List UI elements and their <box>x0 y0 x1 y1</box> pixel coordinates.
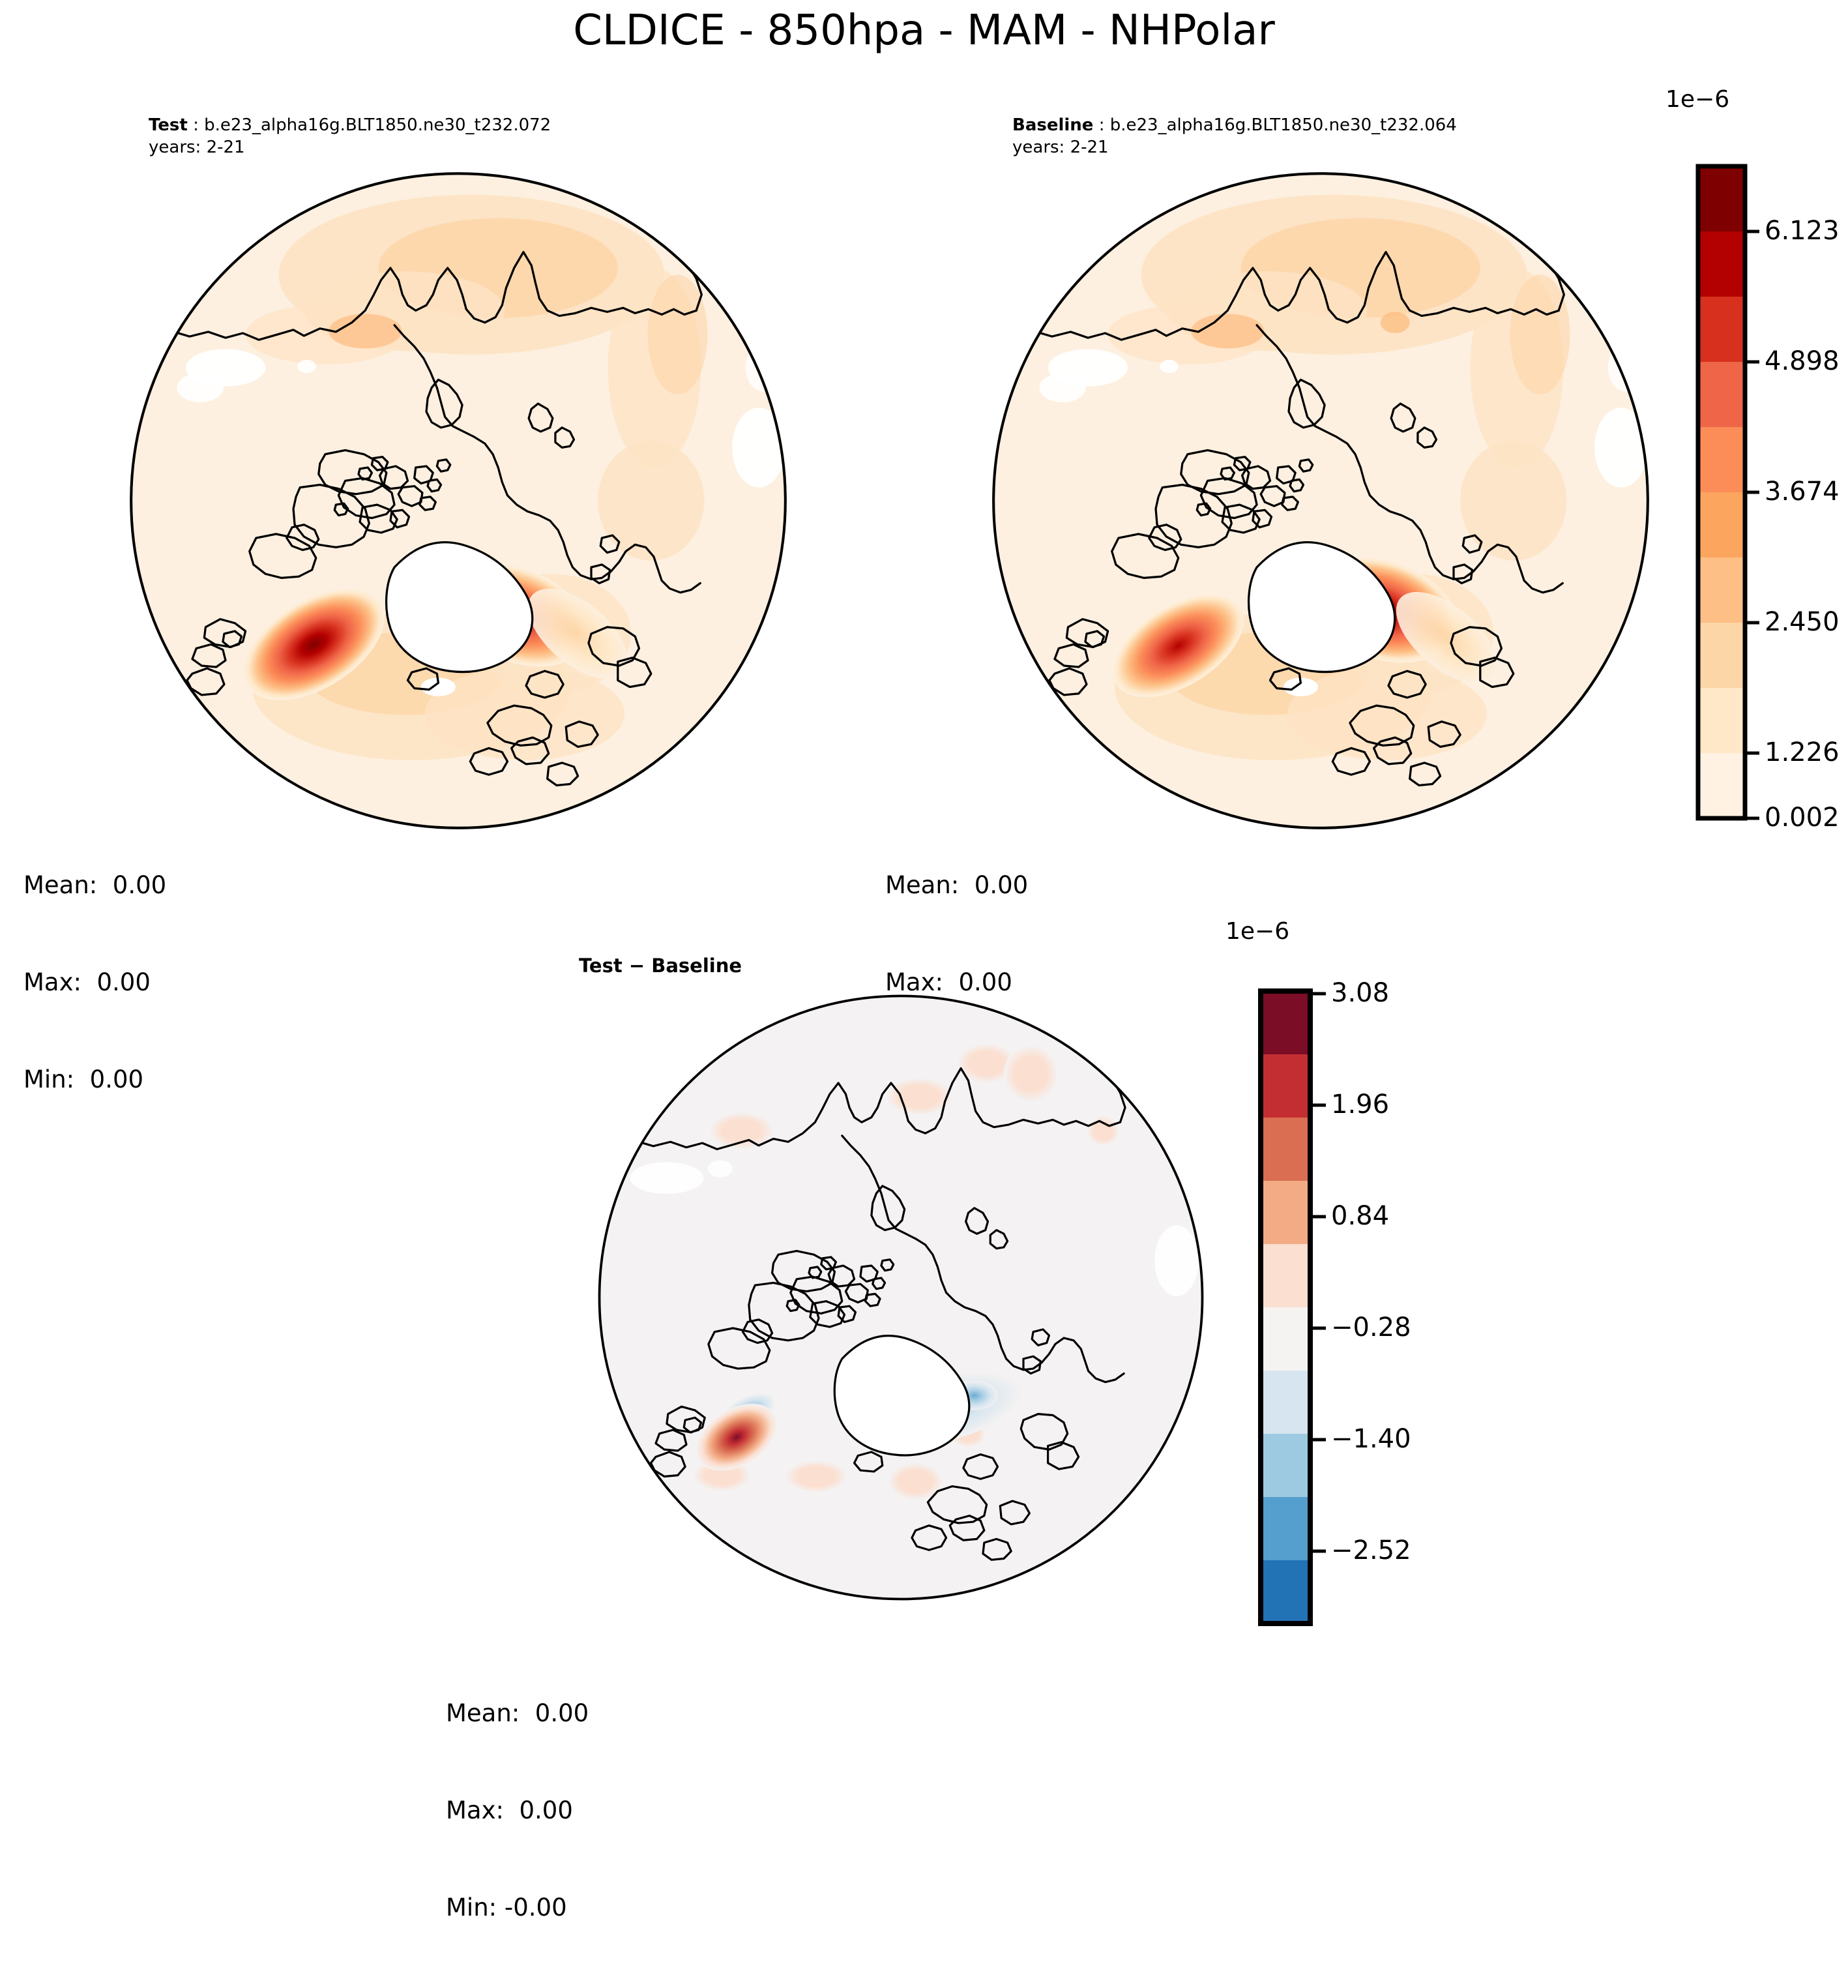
test-field <box>126 168 791 833</box>
diff-cb-tick-3: −0.28 <box>1331 1313 1411 1343</box>
test-map <box>126 168 791 833</box>
diff-cb-tick-2: −1.40 <box>1331 1424 1411 1454</box>
baseline-panel-header: Baseline : b.e23_alpha16g.BLT1850.ne30_t… <box>1012 114 1457 159</box>
main-colorbar-exponent: 1e−6 <box>1665 86 1729 113</box>
baseline-field <box>988 168 1653 833</box>
test-case-name: b.e23_alpha16g.BLT1850.ne30_t232.072 <box>204 115 551 135</box>
diff-map <box>594 991 1207 1604</box>
diff-field <box>594 991 1207 1604</box>
test-years: years: 2-21 <box>149 136 551 158</box>
test-stat-max: Max: 0.00 <box>23 966 166 999</box>
test-stat-min: Min: 0.00 <box>23 1063 166 1096</box>
baseline-case-name: b.e23_alpha16g.BLT1850.ne30_t232.064 <box>1110 115 1457 135</box>
main-cb-tick-1: 0.002 <box>1765 803 1840 833</box>
main-cb-tick-5: 4.898 <box>1765 346 1840 376</box>
diff-cb-tick-5: 1.96 <box>1331 1090 1389 1120</box>
main-colorbar[interactable]: 6.123 4.898 3.674 2.450 1.226 0.002 <box>1685 166 1848 818</box>
test-label: Test <box>149 115 188 135</box>
test-panel-header: Test : b.e23_alpha16g.BLT1850.ne30_t232.… <box>149 114 551 159</box>
diff-colorbar-exponent: 1e−6 <box>1225 918 1289 945</box>
main-cb-tick-6: 6.123 <box>1765 216 1840 246</box>
diff-panel-title: Test − Baseline <box>579 953 742 978</box>
main-colorbar-bands <box>1698 166 1745 818</box>
baseline-case-line: Baseline : b.e23_alpha16g.BLT1850.ne30_t… <box>1012 114 1457 136</box>
baseline-separator: : <box>1093 115 1109 135</box>
baseline-stat-mean: Mean: 0.00 <box>885 869 1028 902</box>
figure-canvas: CLDICE - 850hpa - MAM - NHPolar Test : b… <box>0 0 1848 1739</box>
baseline-map <box>988 168 1653 833</box>
diff-stat-min: Min: -0.00 <box>446 1892 589 1924</box>
baseline-years: years: 2-21 <box>1012 136 1457 158</box>
diff-stats: Mean: 0.00 Max: 0.00 Min: -0.00 <box>446 1633 589 1988</box>
diff-cb-tick-1: −2.52 <box>1331 1536 1411 1565</box>
test-stat-mean: Mean: 0.00 <box>23 869 166 902</box>
diff-colorbar-bands <box>1261 991 1310 1624</box>
test-stats: Mean: 0.00 Max: 0.00 Min: 0.00 <box>23 805 166 1160</box>
test-case-line: Test : b.e23_alpha16g.BLT1850.ne30_t232.… <box>149 114 551 136</box>
diff-stat-max: Max: 0.00 <box>446 1794 589 1827</box>
main-cb-tick-4: 3.674 <box>1765 477 1840 507</box>
diff-stat-mean: Mean: 0.00 <box>446 1697 589 1730</box>
diff-colorbar[interactable]: 3.08 1.96 0.84 −0.28 −1.40 −2.52 <box>1246 991 1442 1624</box>
main-cb-tick-3: 2.450 <box>1765 607 1840 637</box>
test-separator: : <box>188 115 204 135</box>
main-cb-tick-2: 1.226 <box>1765 737 1840 767</box>
page-title: CLDICE - 850hpa - MAM - NHPolar <box>0 7 1848 55</box>
baseline-label: Baseline <box>1012 115 1093 135</box>
diff-cb-tick-4: 0.84 <box>1331 1201 1389 1231</box>
diff-cb-tick-6: 3.08 <box>1331 978 1389 1008</box>
